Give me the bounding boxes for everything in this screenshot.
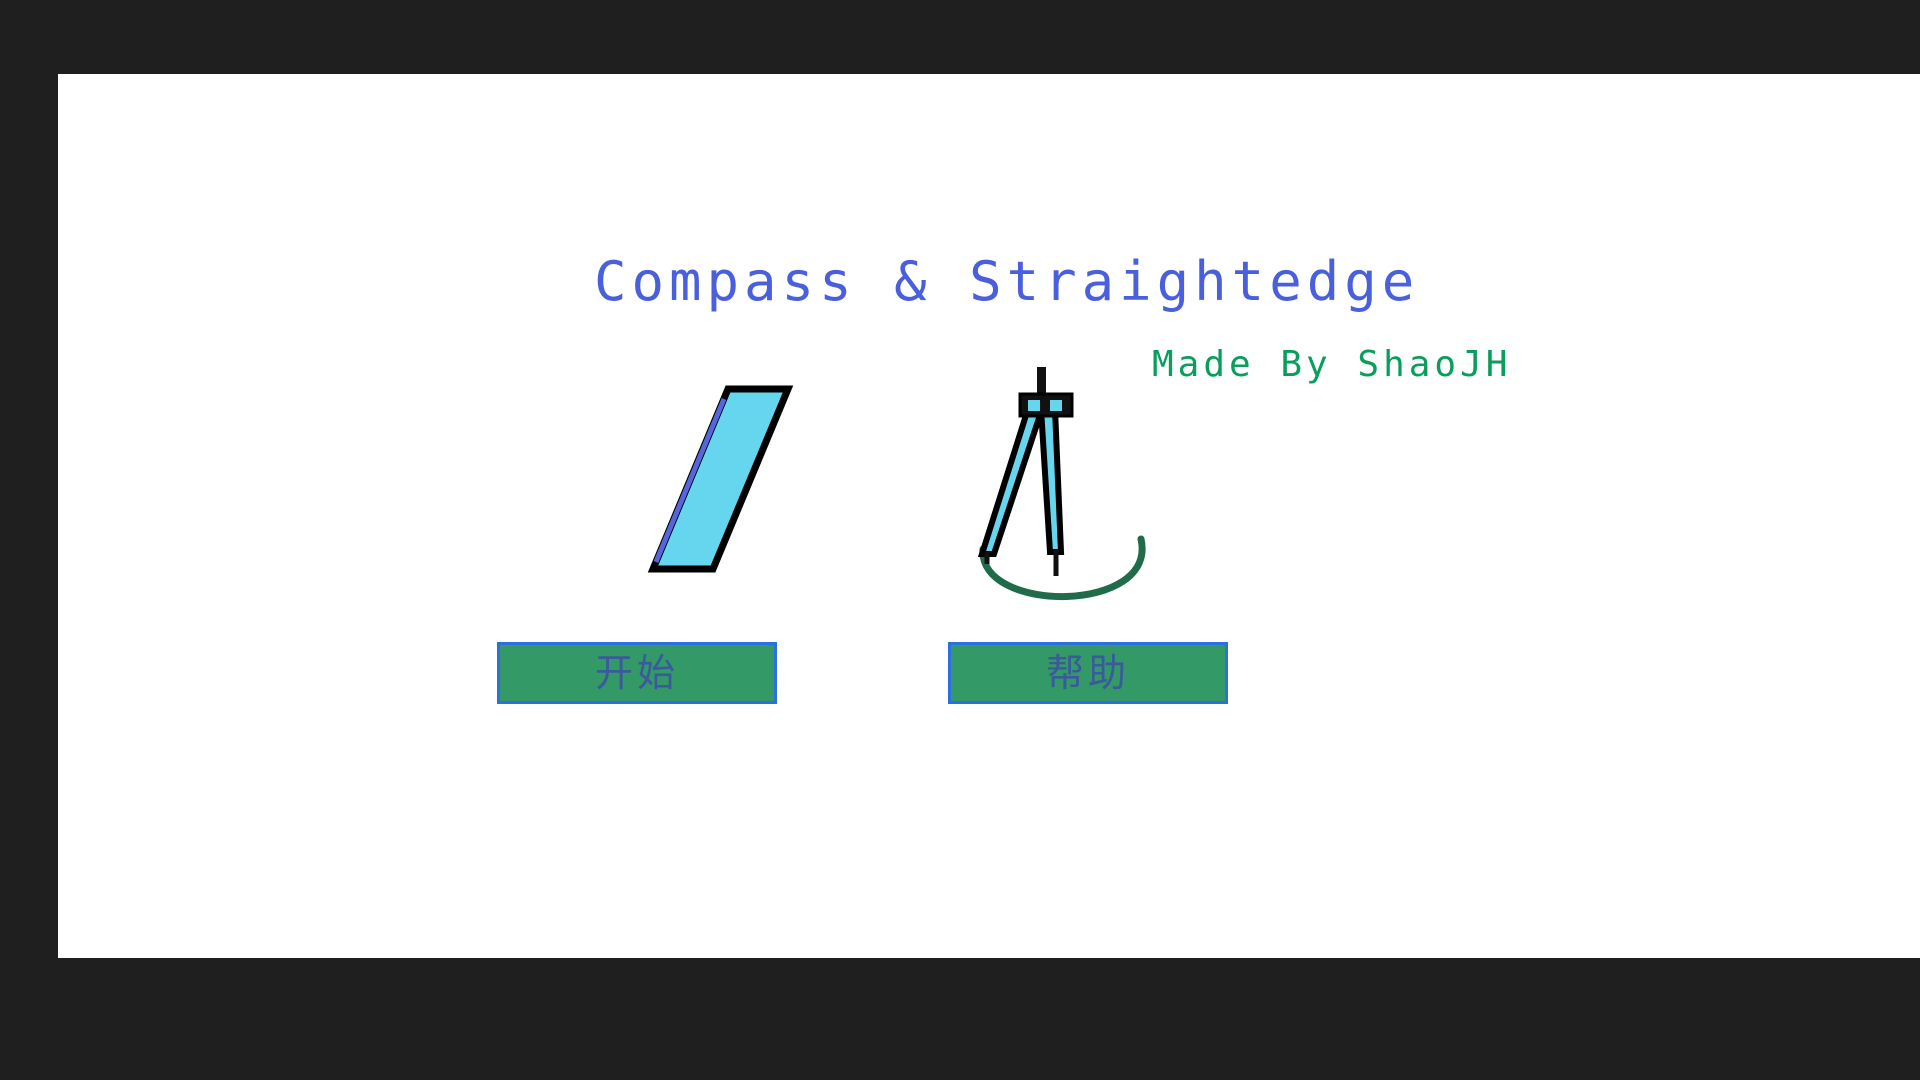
straightedge-icon <box>578 379 858 599</box>
compass-icon <box>958 364 1198 624</box>
help-button[interactable]: 帮助 <box>948 642 1228 704</box>
page-title: Compass & Straightedge <box>594 250 1419 313</box>
application-window: Compass & Straightedge Made By ShaoJH <box>0 0 1920 1080</box>
author-credit: Made By ShaoJH <box>1152 344 1511 385</box>
help-button-label: 帮助 <box>1046 654 1130 692</box>
start-button-label: 开始 <box>595 654 679 692</box>
game-canvas: Compass & Straightedge Made By ShaoJH <box>58 74 1920 958</box>
start-button[interactable]: 开始 <box>497 642 777 704</box>
